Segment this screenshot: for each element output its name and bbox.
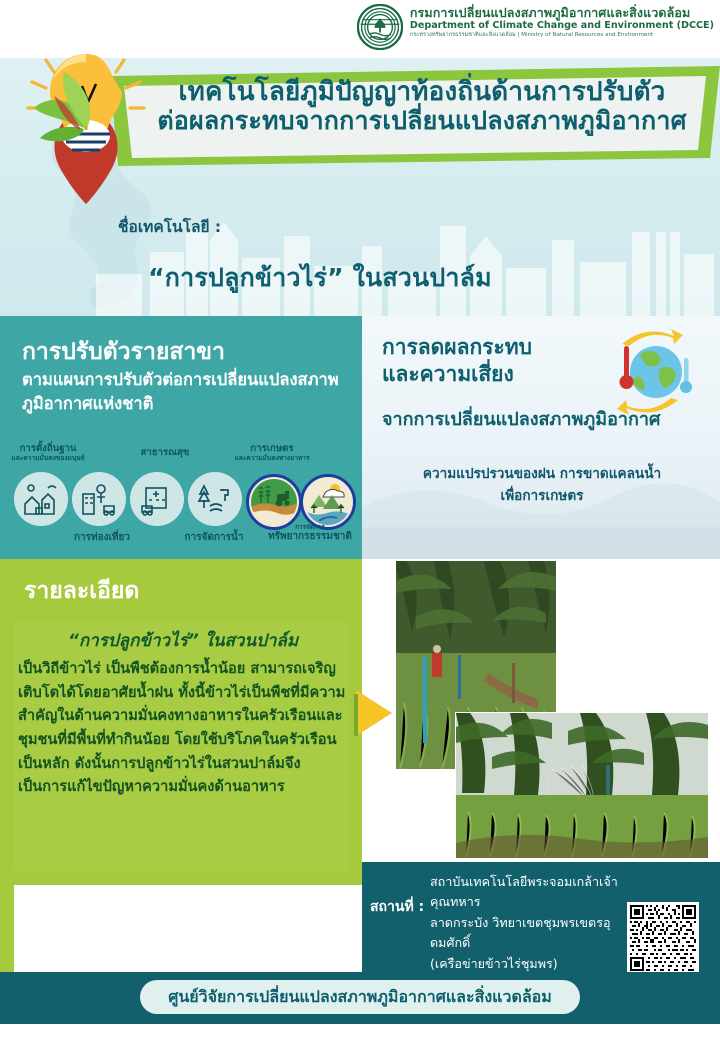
footer-bar: ศูนย์วิจัยการเปลี่ยนแปลงสภาพภูมิอากาศและ… bbox=[0, 972, 720, 1024]
impact-heading-line-1: การลดผลกระทบ bbox=[382, 334, 622, 361]
sector-icon-agriculture[interactable] bbox=[246, 474, 302, 530]
sector-icon-natural-resources[interactable] bbox=[300, 474, 356, 530]
impact-heading-line-2: และความเสี่ยง bbox=[382, 361, 622, 388]
public-health-icon bbox=[138, 482, 176, 516]
sector-adaptation-panel: การปรับตัวรายสาขา ตามแผนการปรับตัวต่อการ… bbox=[0, 316, 362, 559]
natural-resources-icon bbox=[305, 479, 351, 525]
lightbulb-plant-pin-icon bbox=[20, 46, 152, 221]
title-line-1: เทคโนโลยีภูมิปัญญาท้องถิ่นด้านการปรับตัว bbox=[152, 78, 692, 107]
impact-body-line-1: ความแปรปรวนของฝน การขาดแคลนน้ำ bbox=[376, 464, 708, 486]
org-name-en: Department of Climate Change and Environ… bbox=[410, 20, 714, 32]
cold-thermometer bbox=[680, 358, 692, 393]
location-line-2: ลาดกระบัง วิทยาเขตชุมพรเขตรอุดมศักดิ์ bbox=[430, 913, 620, 954]
sector-heading: การปรับตัวรายสาขา bbox=[22, 334, 225, 370]
impact-body: ความแปรปรวนของฝน การขาดแคลนน้ำ เพื่อการเ… bbox=[376, 464, 708, 508]
photo-2-graphic bbox=[456, 713, 708, 858]
research-center-pill: ศูนย์วิจัยการเปลี่ยนแปลงสภาพภูมิอากาศและ… bbox=[140, 980, 580, 1014]
footer-bottom-strip bbox=[0, 1024, 720, 1040]
sector-icon-public-health[interactable] bbox=[130, 472, 184, 526]
research-center-name: ศูนย์วิจัยการเปลี่ยนแปลงสภาพภูมิอากาศและ… bbox=[168, 985, 552, 1010]
sector-icon-tourism[interactable] bbox=[72, 472, 126, 526]
technology-label: ชื่อเทคโนโลยี : bbox=[118, 214, 221, 239]
rice-in-palm-plantation-photo-2 bbox=[455, 712, 709, 859]
impact-heading: การลดผลกระทบ และความเสี่ยง bbox=[382, 334, 622, 389]
tourism-icon bbox=[80, 482, 118, 516]
sector-icons-row: การตั้งถิ่นฐาน และความมั่นคงของมนุษย์ สา… bbox=[0, 446, 362, 559]
ministry-name: กระทรวงทรัพยากรธรรมชาติและสิ่งแวดล้อม | … bbox=[410, 32, 714, 39]
middle-section: การปรับตัวรายสาขา ตามแผนการปรับตัวต่อการ… bbox=[0, 316, 720, 559]
sector-icon-water-management[interactable] bbox=[188, 472, 242, 526]
org-name-th: กรมการเปลี่ยนแปลงสภาพภูมิอากาศและสิ่งแวด… bbox=[410, 6, 714, 20]
play-arrow-icon bbox=[352, 686, 394, 740]
location-line-1: สถาบันเทคโนโลยีพระจอมเกล้าเจ้าคุณทหาร bbox=[430, 872, 620, 913]
title-banner: เทคโนโลยีภูมิปัญญาท้องถิ่นด้านการปรับตัว… bbox=[110, 66, 720, 166]
details-title: “การปลูกข้าวไร่” ในสวนปาล์ม bbox=[20, 627, 346, 654]
sector-label-public-health: สาธารณสุข bbox=[120, 448, 210, 459]
qr-code[interactable] bbox=[627, 902, 699, 974]
settlement-icon bbox=[22, 482, 60, 516]
details-heading: รายละเอียด bbox=[24, 573, 139, 609]
impact-reduction-panel: การลดผลกระทบ และความเสี่ยง จากการเปลี่ยน… bbox=[362, 316, 720, 559]
green-side-accent bbox=[0, 862, 14, 972]
top-section: กรมการเปลี่ยนแปลงสภาพภูมิอากาศและสิ่งแวด… bbox=[0, 0, 720, 316]
details-body: เป็นวิถีข้าวไร่ เป็นพืชต้องการน้ำน้อย สา… bbox=[18, 657, 348, 799]
sector-subheading: ตามแผนการปรับตัวต่อการเปลี่ยนแปลงสภาพภูม… bbox=[22, 368, 352, 416]
sector-icon-settlement[interactable] bbox=[14, 472, 68, 526]
impact-body-line-2: เพื่อการเกษตร bbox=[376, 486, 708, 508]
agriculture-icon bbox=[251, 479, 297, 525]
technology-name: “การปลูกข้าวไร่” ในสวนปาล์ม bbox=[0, 258, 640, 298]
title-line-2: ต่อผลกระทบจากการเปลี่ยนแปลงสภาพภูมิอากาศ bbox=[152, 107, 692, 135]
dcce-emblem-icon bbox=[357, 4, 403, 50]
details-panel: รายละเอียด “การปลูกข้าวไร่” ในสวนปาล์ม เ… bbox=[0, 559, 362, 885]
sector-label-natural-resources: การจัดการ ทรัพยากรธรรมชาติ bbox=[258, 524, 362, 542]
sector-label-tourism: การท่องเที่ยว bbox=[56, 532, 148, 543]
qr-code-icon bbox=[630, 905, 696, 971]
dcce-logo: กรมการเปลี่ยนแปลงสภาพภูมิอากาศและสิ่งแวด… bbox=[357, 4, 714, 50]
location-line-3: (เครือข่ายข้าวไร่ชุมพร) bbox=[430, 954, 620, 974]
globe-thermometer-icon bbox=[594, 324, 702, 420]
location-panel: สถานที่ : สถาบันเทคโนโลยีพระจอมเกล้าเจ้า… bbox=[362, 862, 720, 972]
sector-label-settlement: การตั้งถิ่นฐาน และความมั่นคงของมนุษย์ bbox=[0, 444, 96, 462]
sector-label-water-management: การจัดการน้ำ bbox=[168, 532, 260, 543]
location-label: สถานที่ : bbox=[370, 896, 424, 918]
poster-root: กรมการเปลี่ยนแปลงสภาพภูมิอากาศและสิ่งแวด… bbox=[0, 0, 720, 1040]
water-management-icon bbox=[196, 482, 234, 516]
page-title: เทคโนโลยีภูมิปัญญาท้องถิ่นด้านการปรับตัว… bbox=[152, 78, 692, 135]
sector-label-agriculture: การเกษตร และความมั่นคงทางอาหาร bbox=[222, 444, 322, 462]
